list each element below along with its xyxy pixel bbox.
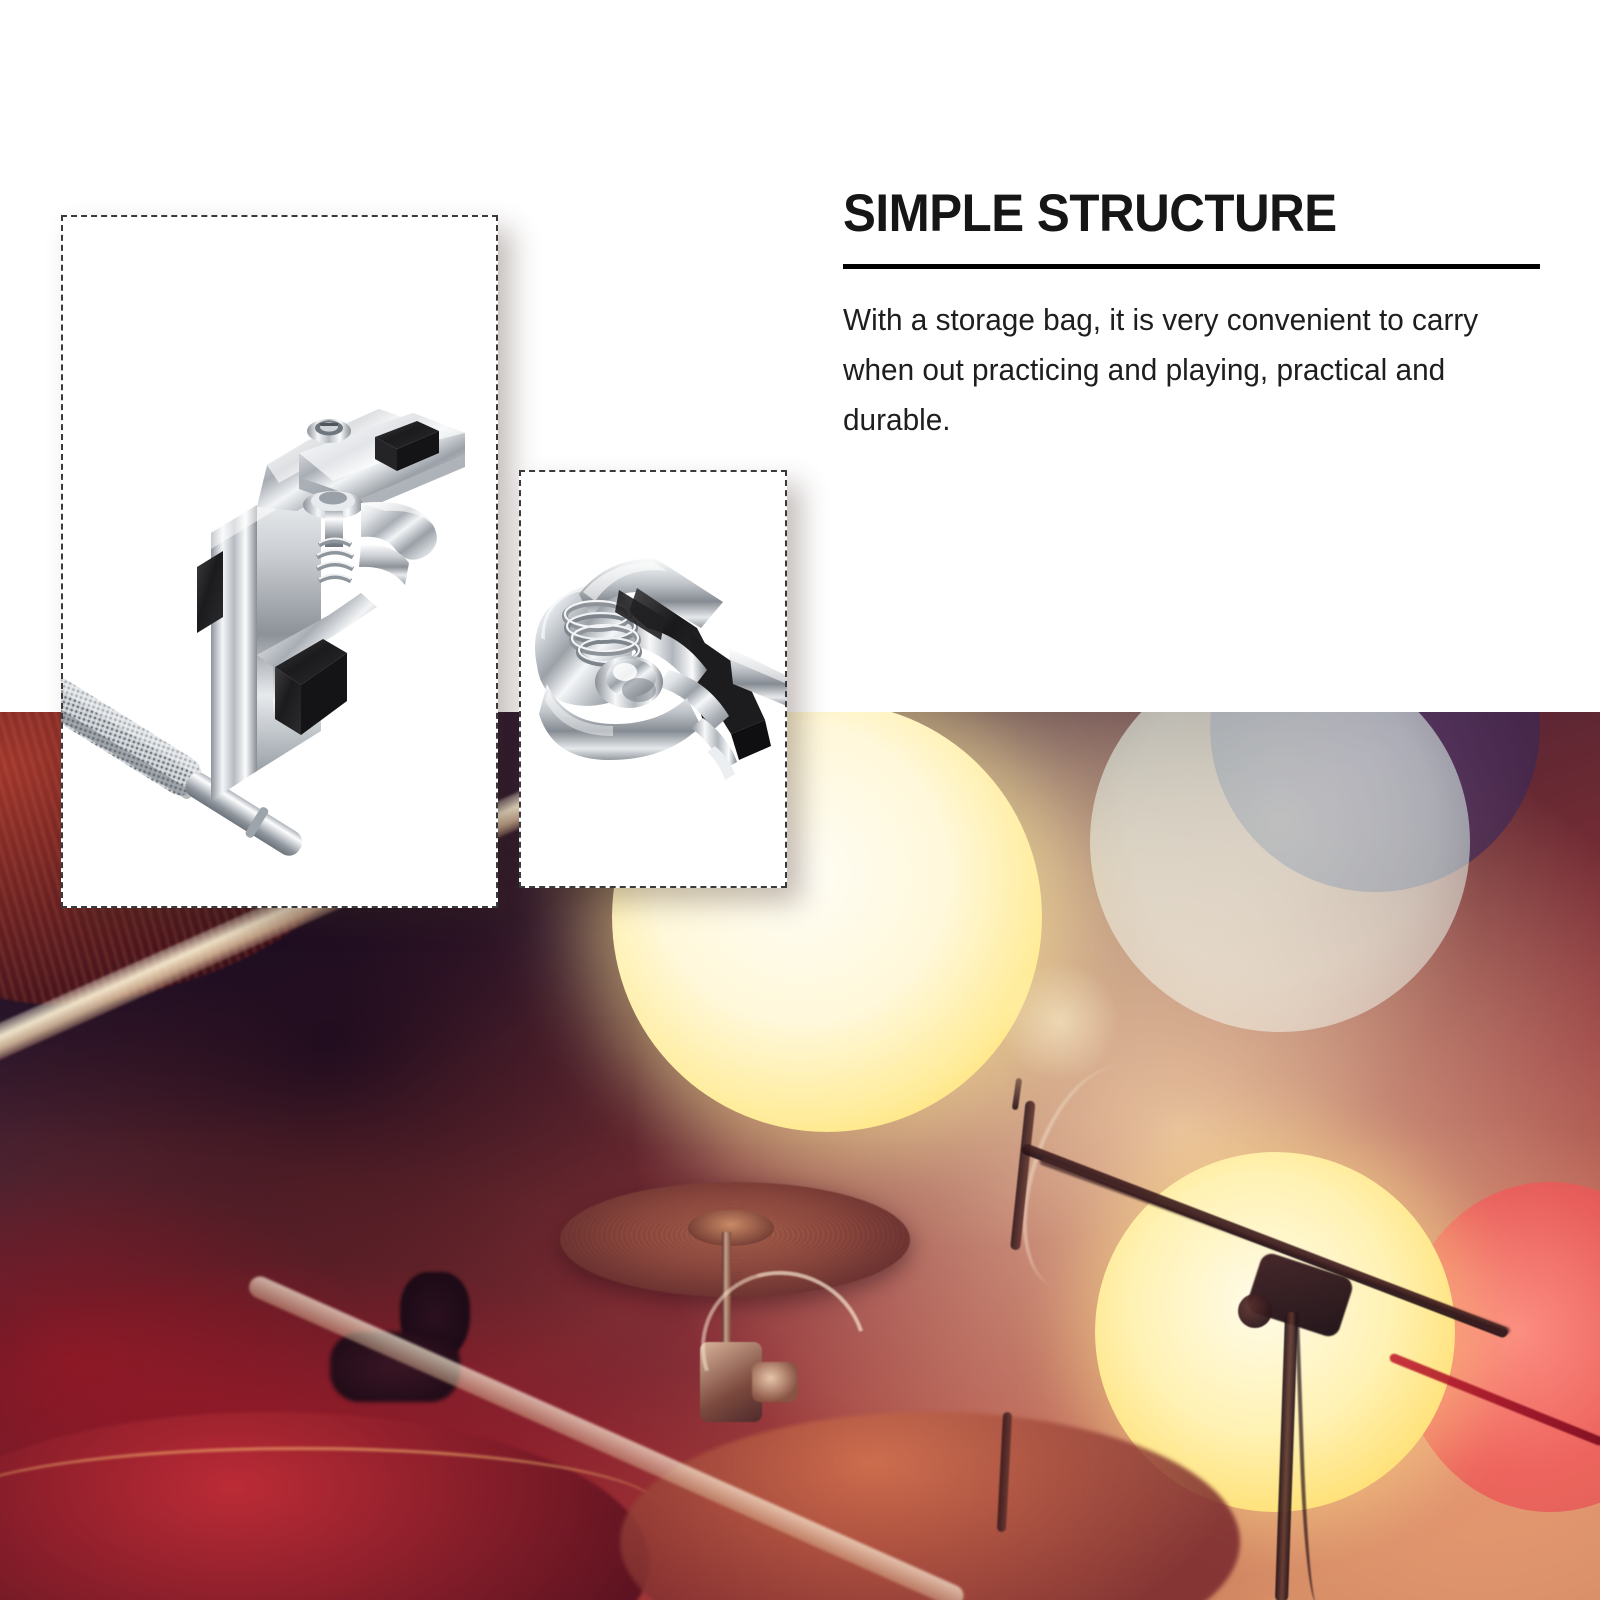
bokeh-light-small xyxy=(1000,962,1120,1082)
page-title: SIMPLE STRUCTURE xyxy=(843,186,1494,242)
clamp-detail-illustration xyxy=(519,470,787,888)
copy-block: SIMPLE STRUCTURE With a storage bag, it … xyxy=(843,186,1543,476)
promo-banner: SIMPLE STRUCTURE With a storage bag, it … xyxy=(0,0,1600,1600)
cymbal-bell xyxy=(688,1210,774,1246)
product-photo-clamp-detail xyxy=(519,470,787,888)
title-divider xyxy=(843,264,1540,269)
product-photo-clamp-full xyxy=(61,215,498,908)
clamp-full-illustration xyxy=(61,215,498,908)
mic-boom-knob xyxy=(1238,1294,1272,1328)
description-text: With a storage bag, it is very convenien… xyxy=(843,295,1540,446)
